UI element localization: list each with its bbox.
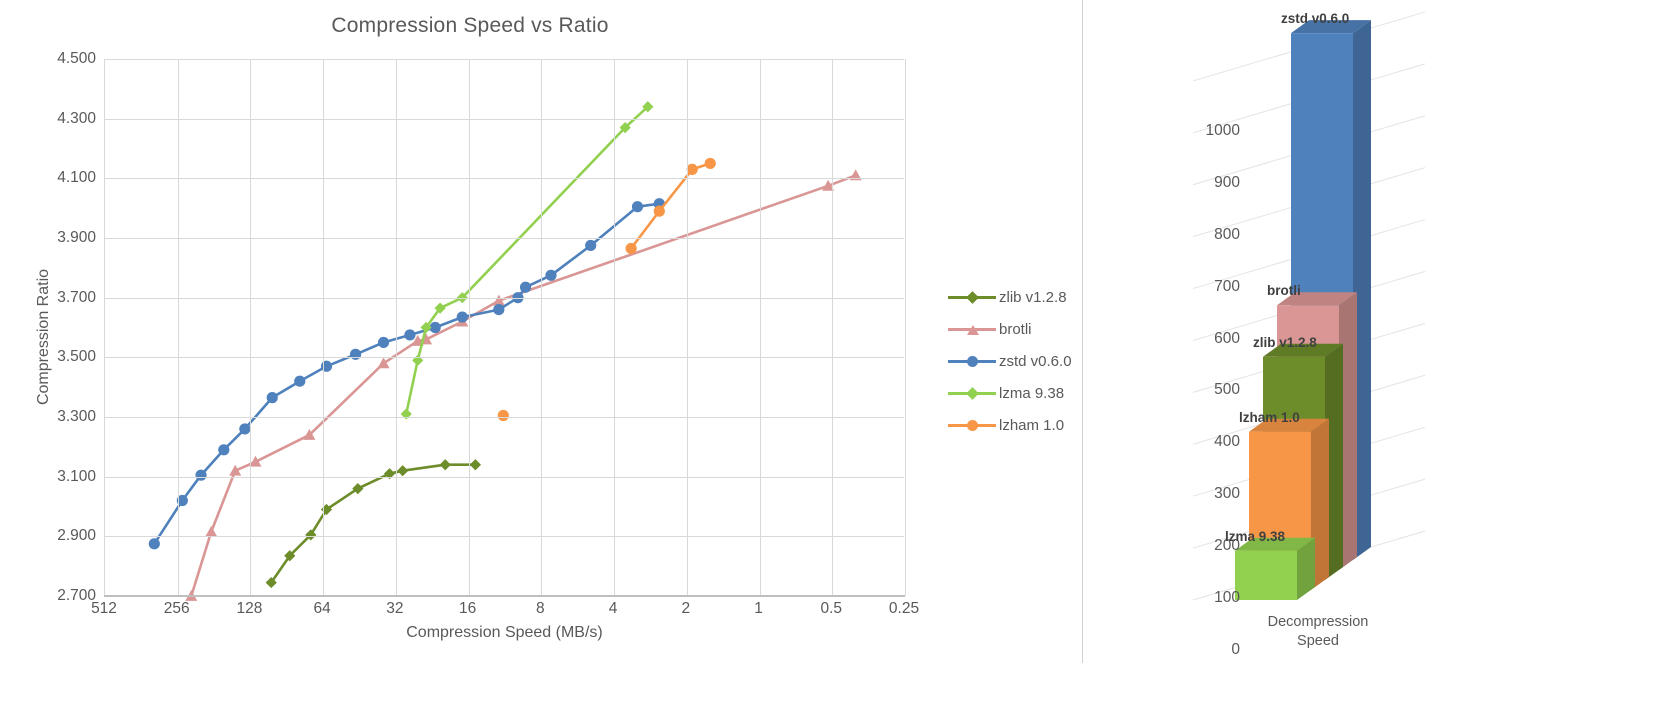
legend-item[interactable]: brotli (948, 313, 1078, 345)
data-point-marker (520, 282, 531, 293)
data-point-marker (470, 459, 481, 470)
gridline-vertical (396, 59, 397, 596)
data-point-marker (626, 243, 637, 254)
legend-item[interactable]: zlib v1.2.8 (948, 281, 1078, 313)
gridline-vertical (832, 59, 833, 596)
bar-y-tick-label: 900 (1214, 174, 1240, 192)
series-line (154, 204, 659, 544)
bar-label: brotli (1267, 283, 1301, 298)
page-title: Compression Speed vs Ratio (0, 14, 940, 38)
bar-y-tick-label: 100 (1214, 589, 1240, 607)
x-tick-label: 0.25 (874, 600, 934, 618)
gridline-horizontal (105, 536, 904, 537)
y-axis-title: Compression Ratio (35, 57, 53, 617)
gridline-vertical (469, 59, 470, 596)
gridline-vertical (905, 59, 906, 596)
legend-item-label: zstd v0.6.0 (999, 353, 1072, 370)
data-point-marker (545, 270, 556, 281)
data-point-marker (239, 423, 250, 434)
gridline-vertical (760, 59, 761, 596)
bar-y-axis-tick-labels: 01002003004005006007008009001000 (1120, 50, 1240, 610)
chart-page: Compression Speed vs Ratio 2.7002.9003.1… (0, 0, 1670, 705)
data-point-marker (267, 392, 278, 403)
legend: zlib v1.2.8brotlizstd v0.6.0lzma 9.38lzh… (948, 281, 1078, 441)
x-tick-label: 4 (583, 600, 643, 618)
gridline-horizontal (105, 477, 904, 478)
x-tick-label: 32 (365, 600, 425, 618)
x-tick-label: 2 (656, 600, 716, 618)
data-point-marker (632, 201, 643, 212)
gridline-horizontal (105, 178, 904, 179)
bar-x-axis-title-line2: Speed (1228, 632, 1408, 651)
plot-area (104, 59, 904, 596)
data-point-marker (149, 538, 160, 549)
data-point-marker (397, 465, 408, 476)
x-tick-label: 16 (438, 600, 498, 618)
gridline-vertical (614, 59, 615, 596)
bar-x-axis-title: Decompression Speed (1228, 613, 1408, 651)
data-point-marker (249, 456, 261, 467)
bar-label: zlib v1.2.8 (1253, 335, 1317, 350)
x-axis-line (104, 595, 905, 597)
gridline-vertical (687, 59, 688, 596)
data-point-marker (585, 240, 596, 251)
compression-scatter-chart: Compression Speed vs Ratio 2.7002.9003.1… (0, 0, 1083, 705)
legend-item[interactable]: lzma 9.38 (948, 377, 1078, 409)
data-point-marker (654, 206, 665, 217)
legend-item-label: brotli (999, 321, 1032, 338)
data-point-marker (440, 459, 451, 470)
gridline-horizontal (105, 119, 904, 120)
data-point-marker (457, 311, 468, 322)
x-tick-label: 256 (147, 600, 207, 618)
bar-label: lzham 1.0 (1239, 410, 1300, 425)
legend-swatch-icon (948, 290, 996, 304)
x-axis-title: Compression Speed (MB/s) (104, 624, 905, 642)
gridline-horizontal (105, 417, 904, 418)
legend-swatch-icon (948, 354, 996, 368)
bar-y-tick-label: 300 (1214, 485, 1240, 503)
legend-item[interactable]: lzham 1.0 (948, 409, 1078, 441)
legend-item-label: zlib v1.2.8 (999, 289, 1067, 306)
data-point-marker (195, 470, 206, 481)
gridline-vertical (250, 59, 251, 596)
bar-label: lzma 9.38 (1225, 529, 1285, 544)
bar-y-tick-label: 1000 (1206, 122, 1240, 140)
data-point-marker (378, 357, 390, 368)
data-point-marker (218, 444, 229, 455)
gridline-vertical (323, 59, 324, 596)
x-tick-label: 128 (219, 600, 279, 618)
bar-x-axis-title-line1: Decompression (1228, 613, 1408, 632)
bar-y-tick-label: 400 (1214, 433, 1240, 451)
data-point-marker (378, 337, 389, 348)
bar-y-tick-label: 700 (1214, 278, 1240, 296)
legend-swatch-icon (948, 418, 996, 432)
data-point-marker (498, 410, 509, 421)
legend-item[interactable]: zstd v0.6.0 (948, 345, 1078, 377)
bar-y-tick-label: 800 (1214, 226, 1240, 244)
gridline-vertical (178, 59, 179, 596)
x-tick-label: 8 (510, 600, 570, 618)
gridline-horizontal (105, 238, 904, 239)
bar-front-face (1235, 551, 1297, 600)
data-point-marker (350, 349, 361, 360)
plot-svg (105, 59, 905, 596)
bar-label: zstd v0.6.0 (1281, 11, 1349, 26)
bar-y-tick-label: 500 (1214, 381, 1240, 399)
gridline-horizontal (105, 298, 904, 299)
gridline-vertical (541, 59, 542, 596)
x-tick-label: 512 (74, 600, 134, 618)
legend-swatch-icon (948, 322, 996, 336)
x-tick-label: 64 (292, 600, 352, 618)
gridline-horizontal (105, 59, 904, 60)
data-point-marker (687, 164, 698, 175)
data-point-marker (294, 376, 305, 387)
legend-item-label: lzma 9.38 (999, 385, 1064, 402)
bar-y-tick-label: 600 (1214, 330, 1240, 348)
data-point-marker (404, 329, 415, 340)
data-point-marker (493, 304, 504, 315)
x-axis-tick-labels: 51225612864321684210.50.25 (104, 600, 905, 624)
x-tick-label: 1 (729, 600, 789, 618)
gridline-horizontal (105, 357, 904, 358)
x-tick-label: 0.5 (801, 600, 861, 618)
series-line (271, 465, 475, 583)
data-point-marker (705, 158, 716, 169)
legend-swatch-icon (948, 386, 996, 400)
legend-item-label: lzham 1.0 (999, 417, 1064, 434)
